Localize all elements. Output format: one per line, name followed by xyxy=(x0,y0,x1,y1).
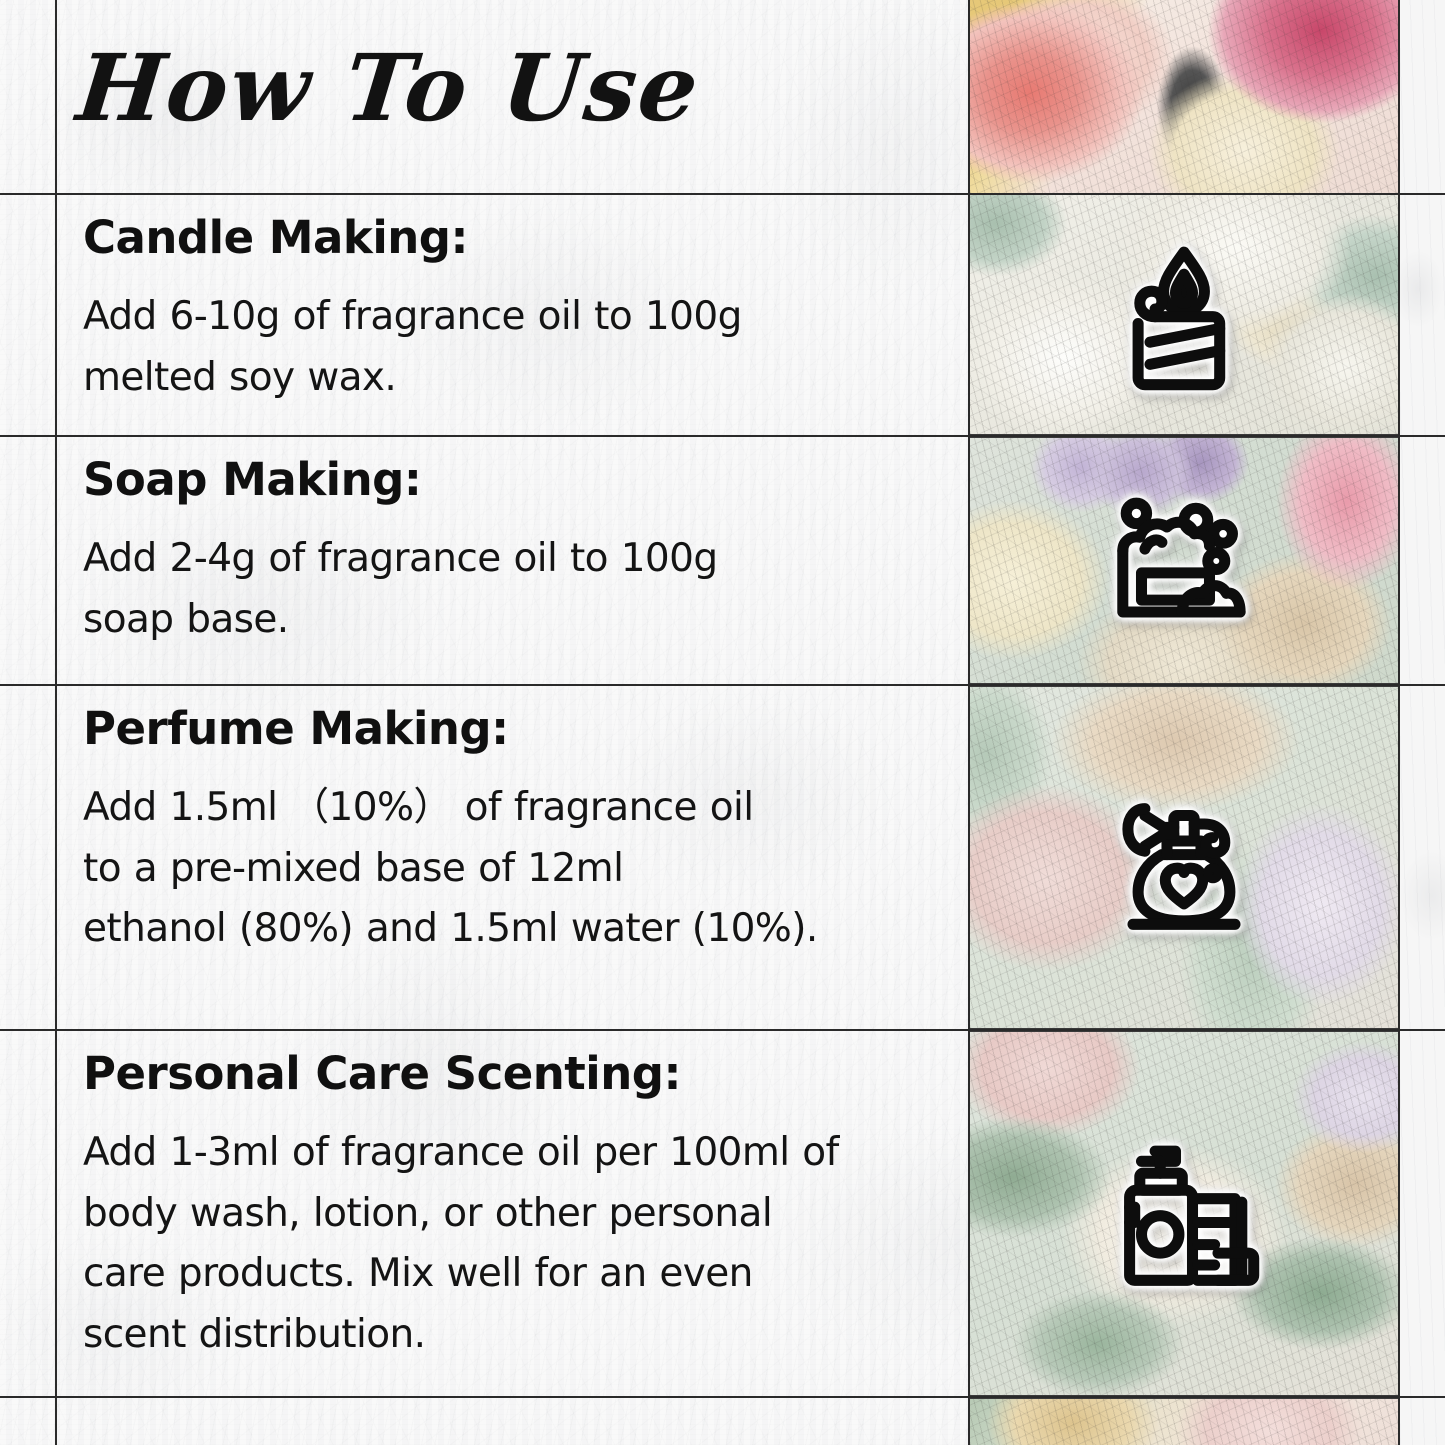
perfume-atomizer-icon xyxy=(1099,773,1269,943)
infographic-page: How To Use Candle Making: Add 6-10g of f… xyxy=(0,0,1445,1445)
section-heading: Soap Making: xyxy=(83,456,944,503)
section-body-line: Add 2-4g of fragrance oil to 100g xyxy=(83,529,944,589)
section-candle-making: Candle Making: Add 6-10g of fragrance oi… xyxy=(57,214,970,408)
divider-soap-perfume xyxy=(0,684,1445,686)
left-margin-rule xyxy=(55,0,57,1445)
soap-bar-bubbles-icon xyxy=(1099,476,1269,646)
section-body-line: ethanol (80%) and 1.5ml water (10%). xyxy=(83,899,944,959)
section-heading: Personal Care Scenting: xyxy=(83,1050,944,1097)
personal-care-illustration xyxy=(970,1030,1400,1397)
soap-illustration xyxy=(970,436,1400,685)
section-body-line: Add 1.5ml （10%） of fragrance oil xyxy=(83,778,944,838)
right-margin-rule xyxy=(1398,0,1400,1445)
section-body-line: body wash, lotion, or other personal xyxy=(83,1184,944,1244)
section-body-line: Add 1-3ml of fragrance oil per 100ml of xyxy=(83,1123,944,1183)
page-title: How To Use xyxy=(72,34,705,142)
lotion-bottle-tube-soap-icon xyxy=(1099,1129,1269,1299)
divider-candle-soap xyxy=(0,435,1445,437)
candle-icon xyxy=(1099,230,1269,400)
section-body-line: Add 6-10g of fragrance oil to 100g xyxy=(83,287,944,347)
column-split-rule xyxy=(968,0,970,1445)
perfume-illustration xyxy=(970,685,1400,1030)
right-paper-margin xyxy=(1400,0,1445,1445)
section-heading: Candle Making: xyxy=(83,214,944,261)
header-illustration-art xyxy=(970,0,1398,193)
footer-illustration-art xyxy=(970,1399,1398,1445)
section-perfume-making: Perfume Making: Add 1.5ml （10%） of fragr… xyxy=(57,705,970,960)
divider-footer xyxy=(0,1396,1445,1398)
header-illustration xyxy=(970,0,1400,195)
section-body-line: scent distribution. xyxy=(83,1305,944,1365)
section-soap-making: Soap Making: Add 2-4g of fragrance oil t… xyxy=(57,456,970,650)
divider-header xyxy=(0,193,1445,195)
footer-illustration xyxy=(970,1397,1400,1445)
section-body-line: care products. Mix well for an even xyxy=(83,1244,944,1304)
candle-illustration xyxy=(970,193,1400,436)
section-body-line: melted soy wax. xyxy=(83,348,944,408)
section-body-line: soap base. xyxy=(83,590,944,650)
header: How To Use xyxy=(0,0,970,193)
divider-perfume-personal-care xyxy=(0,1029,1445,1031)
section-personal-care-scenting: Personal Care Scenting: Add 1-3ml of fra… xyxy=(57,1050,970,1365)
section-body-line: to a pre-mixed base of 12ml xyxy=(83,839,944,899)
section-heading: Perfume Making: xyxy=(83,705,944,752)
